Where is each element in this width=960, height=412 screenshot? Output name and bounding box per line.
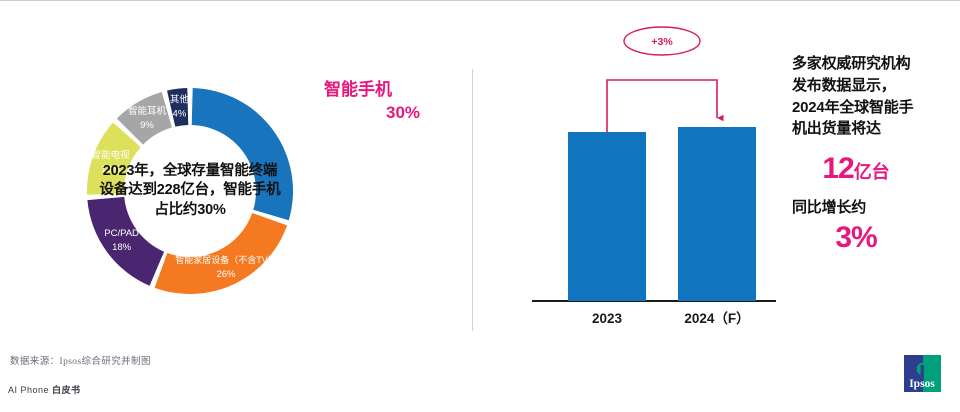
growth-connector bbox=[607, 80, 717, 132]
bar-chart-svg: +3% 2023 2024（F） bbox=[480, 1, 800, 412]
donut-slice-value-5: 4% bbox=[173, 109, 187, 120]
donut-slice-0 bbox=[192, 88, 293, 220]
deck-footer-cn: 白皮书 bbox=[52, 385, 81, 395]
insight-text-panel: 多家权威研究机构发布数据显示，2024年全球智能手机出货量将达 12亿台 同比增… bbox=[792, 53, 952, 255]
bar-2023 bbox=[568, 132, 646, 301]
ipsos-logo-svg: Ipsos bbox=[901, 352, 944, 395]
ipsos-logo: Ipsos bbox=[901, 352, 944, 395]
deck-footer-latin: AI Phone bbox=[8, 385, 52, 395]
donut-chart-svg: 智能家居设备（不含TV）26%PC/PAD18%智能电视13%智能耳机9%其他4… bbox=[62, 63, 318, 319]
source-note: 数据来源：Ipsos综合研究并制图 bbox=[10, 353, 151, 367]
insight-headline: 多家权威研究机构发布数据显示，2024年全球智能手机出货量将达 bbox=[792, 53, 916, 140]
shipment-volume-unit: 亿台 bbox=[854, 162, 890, 182]
smartphone-callout-value: 30% bbox=[324, 102, 460, 125]
donut-slice-value-4: 9% bbox=[140, 120, 154, 131]
bar-2024f bbox=[678, 127, 756, 301]
donut-slice-label-4: 智能耳机 bbox=[128, 105, 167, 117]
donut-slice-value-3: 13% bbox=[101, 164, 121, 175]
logo-wordmark: Ipsos bbox=[909, 378, 935, 390]
donut-slice-1 bbox=[155, 213, 287, 294]
deck-footer-label: AI Phone 白皮书 bbox=[8, 383, 81, 396]
shipment-volume-number: 12 bbox=[822, 152, 853, 185]
donut-slice-label-5: 其他 bbox=[170, 94, 190, 106]
slide-canvas: 智能家居设备（不含TV）26%PC/PAD18%智能电视13%智能耳机9%其他4… bbox=[0, 0, 960, 412]
panel-divider bbox=[472, 69, 473, 331]
shipment-volume-value: 12亿台 bbox=[792, 152, 920, 186]
donut-chart: 智能家居设备（不含TV）26%PC/PAD18%智能电视13%智能耳机9%其他4… bbox=[62, 63, 318, 319]
donut-slice-value-2: 18% bbox=[112, 242, 132, 253]
bar-xlabel-2023: 2023 bbox=[592, 311, 623, 326]
donut-chart-panel: 智能家居设备（不含TV）26%PC/PAD18%智能电视13%智能耳机9%其他4… bbox=[0, 1, 472, 412]
donut-slice-label-2: PC/PAD bbox=[104, 228, 139, 239]
bar-xlabel-2024f: 2024（F） bbox=[684, 311, 749, 326]
donut-slice-value-1: 26% bbox=[216, 269, 236, 280]
growth-sub-label: 同比增长约 bbox=[792, 196, 920, 217]
growth-rate-value: 3% bbox=[792, 221, 920, 255]
smartphone-callout: 智能手机 30% bbox=[324, 79, 460, 125]
growth-badge-value: +3% bbox=[651, 36, 673, 48]
donut-slice-label-3: 智能电视 bbox=[91, 149, 130, 161]
donut-slice-label-1: 智能家居设备（不含TV） bbox=[175, 254, 277, 265]
shipment-bar-chart-panel: +3% 2023 2024（F） bbox=[480, 1, 800, 412]
smartphone-callout-label: 智能手机 bbox=[324, 79, 460, 102]
